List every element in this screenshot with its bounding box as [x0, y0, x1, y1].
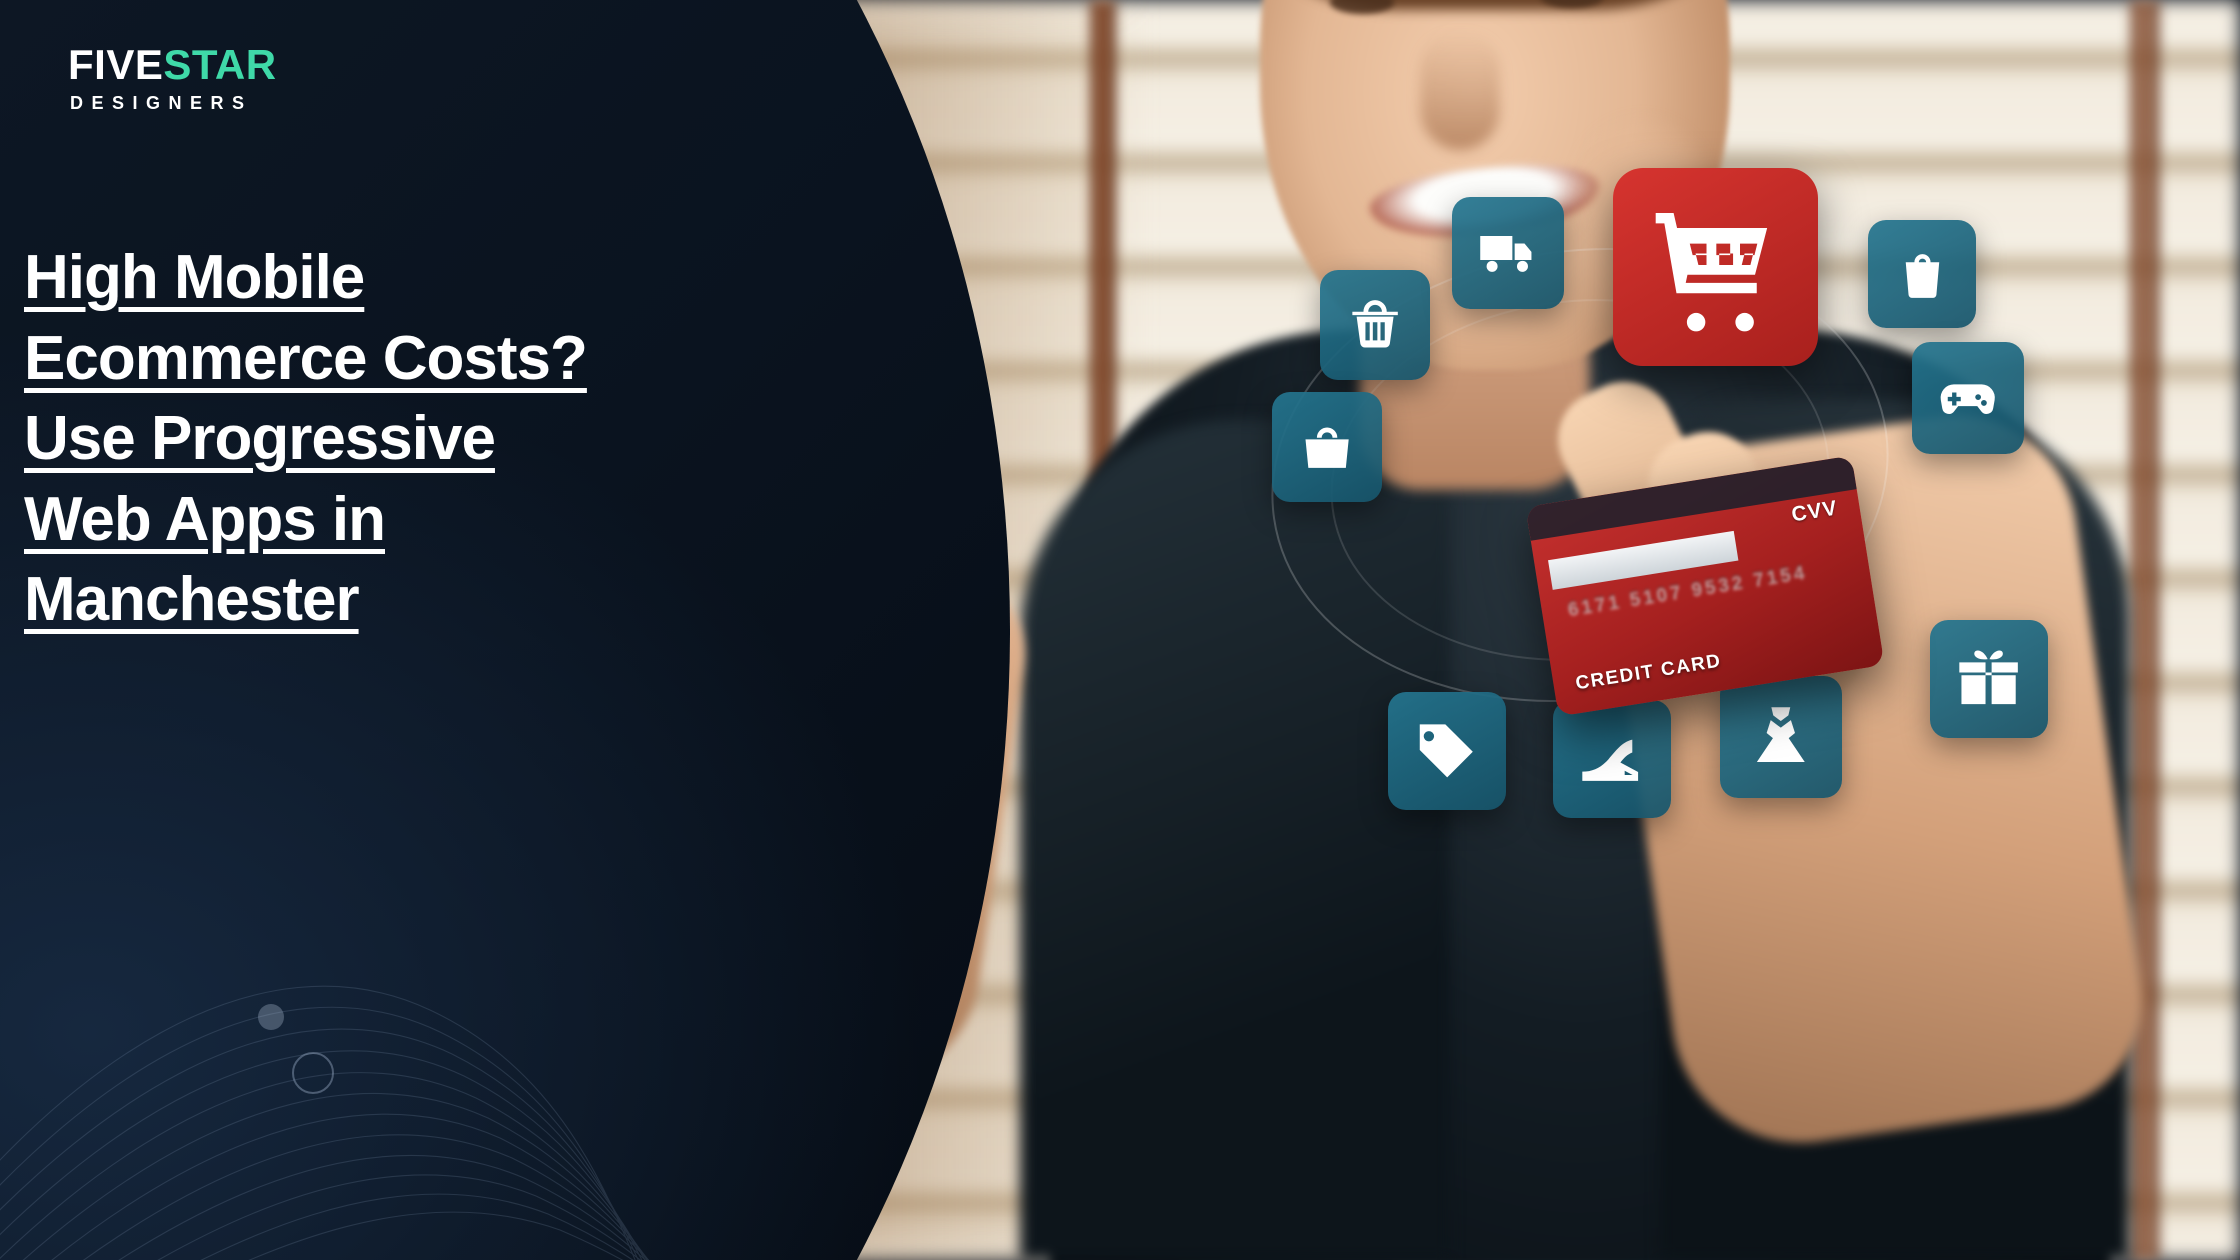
- shopping-basket-icon: [1320, 270, 1430, 380]
- decorative-ring: [292, 1052, 334, 1094]
- decorative-wave-lines: [0, 760, 740, 1260]
- headline-line-4: Web Apps in: [24, 480, 385, 561]
- headline-line-5: Manchester: [24, 560, 359, 641]
- shopping-cart-icon: [1613, 168, 1818, 366]
- decorative-dot: [258, 1004, 284, 1030]
- page-title: High Mobile Ecommerce Costs? Use Progres…: [24, 238, 724, 641]
- shopping-bag-icon: [1868, 220, 1976, 328]
- headline-line-2: Ecommerce Costs?: [24, 319, 587, 400]
- logo-subtitle: DESIGNERS: [68, 93, 277, 114]
- sale-tag-icon: [1388, 692, 1506, 810]
- dress-icon: [1720, 676, 1842, 798]
- fivestar-designers-logo[interactable]: FIVESTAR DESIGNERS: [68, 44, 277, 114]
- headline-line-3: Use Progressive: [24, 399, 495, 480]
- card-type-label: CREDIT CARD: [1574, 651, 1723, 696]
- nose: [1420, 30, 1500, 150]
- handbag-icon: [1272, 392, 1382, 502]
- hero-banner: CVV 6171 5107 9532 7154 CREDIT CARD: [0, 0, 2240, 1260]
- logo-word-star: STAR: [163, 41, 276, 88]
- delivery-truck-icon: [1452, 197, 1564, 309]
- game-controller-icon: [1912, 342, 2024, 454]
- card-cvv-label: CVV: [1790, 496, 1839, 527]
- high-heel-shoe-icon: [1553, 700, 1671, 818]
- shoulder-left: [1020, 420, 1450, 1260]
- logo-word-five: FIVE: [68, 41, 163, 88]
- headline-line-1: High Mobile: [24, 238, 364, 319]
- gift-box-icon: [1930, 620, 2048, 738]
- logo-wordmark: FIVESTAR: [68, 44, 277, 86]
